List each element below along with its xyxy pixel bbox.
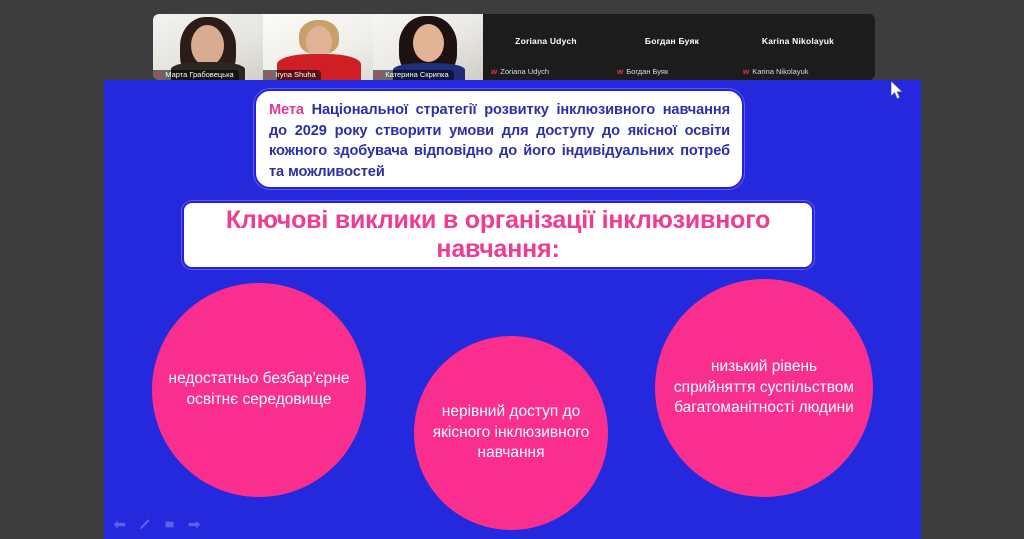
video-tile-1[interactable]: w Марта Грабовецька <box>153 14 263 80</box>
challenge-circle-1-text: недостатньо безбар’єрне освітнє середови… <box>152 369 366 411</box>
slide-heading-box: Ключові виклики в організації інклюзивно… <box>182 201 814 269</box>
video-tile-5[interactable]: Богдан Буяк w Богдан Буяк <box>609 14 735 80</box>
participant-name-6: Karina Nikolayuk <box>752 67 808 76</box>
video-tile-3-active-speaker[interactable]: w Катерина Скрипка <box>373 14 483 80</box>
video-tile-4[interactable]: Zoriana Udych w Zoriana Udych <box>483 14 609 80</box>
goal-statement-text: Мета Національної стратегії розвитку інк… <box>269 100 730 183</box>
mic-muted-icon: w <box>155 71 163 79</box>
redo-arrow-icon[interactable] <box>187 517 201 531</box>
participant-name-badge-2: w Iryna Shuha <box>263 70 321 80</box>
video-tile-2[interactable]: w Iryna Shuha <box>263 14 373 80</box>
goal-highlight-word: Мета <box>269 102 304 118</box>
undo-arrow-icon[interactable] <box>112 517 126 531</box>
shared-slide: Мета Національної стратегії розвитку інк… <box>104 80 921 539</box>
participant-name-5: Богдан Буяк <box>626 67 668 76</box>
annotation-toolbar[interactable] <box>112 517 201 531</box>
person-head-1 <box>191 25 224 66</box>
participant-name-badge-5: w Богдан Буяк <box>617 67 668 76</box>
participant-name-badge-1: w Марта Грабовецька <box>153 70 239 80</box>
challenge-circle-1: недостатньо безбар’єрне освітнє середови… <box>152 283 366 497</box>
challenge-circle-2-text: нерівний доступ до якісного інклюзивного… <box>414 402 608 464</box>
eraser-icon[interactable] <box>162 517 176 531</box>
mic-muted-icon: w <box>616 68 624 76</box>
participant-display-name-5: Богдан Буяк <box>609 36 735 46</box>
participant-name-4: Zoriana Udych <box>500 67 549 76</box>
participant-name-badge-6: w Karina Nikolayuk <box>743 67 809 76</box>
screen-root: w Марта Грабовецька w Iryna Shuha <box>0 0 1024 539</box>
goal-statement-box: Мета Національної стратегії розвитку інк… <box>254 89 744 189</box>
participant-name-badge-3: w Катерина Скрипка <box>373 70 454 80</box>
mic-muted-icon: w <box>265 71 273 79</box>
video-filmstrip: w Марта Грабовецька w Iryna Shuha <box>153 14 875 80</box>
participant-name-badge-4: w Zoriana Udych <box>491 67 549 76</box>
participant-name-2: Iryna Shuha <box>275 71 315 79</box>
mic-muted-icon: w <box>742 68 750 76</box>
challenge-circle-2: нерівний доступ до якісного інклюзивного… <box>414 336 608 530</box>
mic-muted-icon: w <box>375 71 383 79</box>
participant-display-name-4: Zoriana Udych <box>483 36 609 46</box>
participant-name-1: Марта Грабовецька <box>165 71 233 79</box>
mic-muted-icon: w <box>490 68 498 76</box>
participant-name-3: Катерина Скрипка <box>385 71 448 79</box>
participant-display-name-6: Karina Nikolayuk <box>735 36 861 46</box>
challenge-circle-3: низький рівень сприйняття суспільством б… <box>655 279 873 497</box>
slide-heading-text: Ключові виклики в організації інклюзивно… <box>184 206 812 265</box>
person-head-3 <box>413 24 444 62</box>
goal-body-text: Національної стратегії розвитку інклюзив… <box>269 102 730 180</box>
challenge-circle-3-text: низький рівень сприйняття суспільством б… <box>655 357 873 419</box>
video-tile-6[interactable]: Karina Nikolayuk w Karina Nikolayuk <box>735 14 861 80</box>
pen-icon[interactable] <box>137 517 151 531</box>
